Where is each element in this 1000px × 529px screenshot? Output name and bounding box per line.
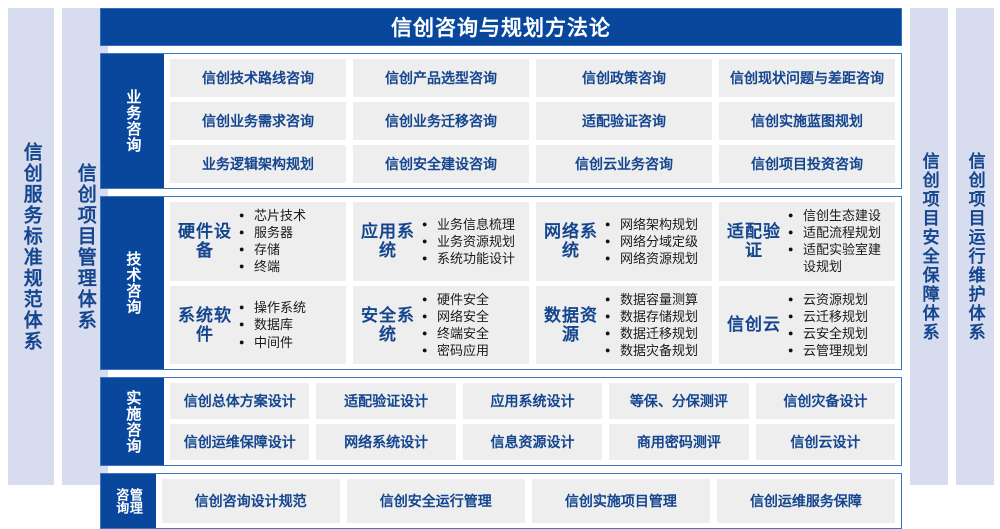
list-item[interactable]: 信创咨询设计规范 — [162, 479, 340, 523]
list-item[interactable]: 信创项目投资咨询 — [719, 145, 895, 183]
list-item[interactable]: 适配验证咨询 — [536, 102, 712, 140]
section-label-text: 技术咨询 — [125, 251, 141, 315]
section-implementation-consulting: 实施咨询 信创总体方案设计 适配验证设计 应用系统设计 等保、分保测评 信创灾备… — [100, 377, 902, 466]
tech-card-title: 系统软件 — [176, 306, 238, 344]
tech-card-network[interactable]: 网络系统 网络架构规划 网络分域定级 网络资源规划 — [536, 202, 712, 281]
pillar-right-security-assurance: 信创项目安全保障体系 — [910, 8, 948, 485]
tech-card-title: 应用系统 — [359, 222, 421, 260]
list-item[interactable]: 信创技术路线咨询 — [170, 59, 346, 97]
section-body-technology: 硬件设备 芯片技术 服务器 存储 终端 应用系统 业务信息梳理 业务资源规划 — [164, 197, 901, 369]
list-item: 云安全规划 — [801, 325, 889, 342]
cell-row: 信创总体方案设计 适配验证设计 应用系统设计 等保、分保测评 信创灾备设计 — [170, 383, 895, 419]
list-item: 密码应用 — [435, 342, 523, 359]
list-item: 中间件 — [252, 334, 340, 351]
list-item: 终端 — [252, 258, 340, 275]
section-label-implementation: 实施咨询 — [101, 378, 164, 465]
list-item[interactable]: 等保、分保测评 — [609, 383, 748, 419]
list-item[interactable]: 信创业务需求咨询 — [170, 102, 346, 140]
list-item[interactable]: 信创实施项目管理 — [532, 479, 710, 523]
tech-card-hardware[interactable]: 硬件设备 芯片技术 服务器 存储 终端 — [170, 202, 346, 281]
center-column: 信创咨询与规划方法论 业务咨询 信创技术路线咨询 信创产品选型咨询 信创政策咨询… — [100, 8, 902, 490]
list-item[interactable]: 商用密码测评 — [609, 424, 748, 460]
list-item: 数据容量测算 — [618, 291, 706, 308]
tech-card-list: 云资源规划 云迁移规划 云安全规划 云管理规划 — [787, 291, 889, 360]
tech-card-row: 系统软件 操作系统 数据库 中间件 安全系统 硬件安全 网络安全 终端安全 — [170, 286, 895, 365]
tech-card-title: 硬件设备 — [176, 222, 238, 260]
list-item[interactable]: 信创云设计 — [756, 424, 895, 460]
list-item[interactable]: 信创云业务咨询 — [536, 145, 712, 183]
list-item[interactable]: 信创政策咨询 — [536, 59, 712, 97]
tech-card-title: 数据资源 — [542, 306, 604, 344]
list-item[interactable]: 信创业务迁移咨询 — [353, 102, 529, 140]
tech-card-data-resource[interactable]: 数据资源 数据容量测算 数据存储规划 数据迁移规划 数据灾备规划 — [536, 286, 712, 365]
cell-row: 业务逻辑架构规划 信创安全建设咨询 信创云业务咨询 信创项目投资咨询 — [170, 145, 895, 183]
list-item: 适配实验室建设规划 — [801, 241, 889, 275]
section-label-text-col1: 咨询 — [115, 488, 129, 514]
cell-row: 信创技术路线咨询 信创产品选型咨询 信创政策咨询 信创现状问题与差距咨询 — [170, 59, 895, 97]
list-item: 网络安全 — [435, 308, 523, 325]
list-item: 服务器 — [252, 224, 340, 241]
list-item: 存储 — [252, 241, 340, 258]
tech-card-title: 适配验证 — [725, 222, 787, 260]
section-technology-consulting: 技术咨询 硬件设备 芯片技术 服务器 存储 终端 应用系统 — [100, 196, 902, 370]
list-item[interactable]: 信创安全建设咨询 — [353, 145, 529, 183]
pillar-label: 信创项目运行维护体系 — [966, 152, 983, 342]
list-item: 芯片技术 — [252, 207, 340, 224]
diagram-root: 信创服务标准规范体系 信创项目管理体系 信创项目安全保障体系 信创项目运行维护体… — [0, 0, 1000, 496]
tech-card-list: 芯片技术 服务器 存储 终端 — [238, 207, 340, 276]
list-item[interactable]: 信创现状问题与差距咨询 — [719, 59, 895, 97]
tech-card-security[interactable]: 安全系统 硬件安全 网络安全 终端安全 密码应用 — [353, 286, 529, 365]
tech-card-list: 网络架构规划 网络分域定级 网络资源规划 — [604, 216, 706, 267]
list-item[interactable]: 信创产品选型咨询 — [353, 59, 529, 97]
tech-card-adaptation[interactable]: 适配验证 信创生态建设 适配流程规划 适配实验室建设规划 — [719, 202, 895, 281]
list-item: 云资源规划 — [801, 291, 889, 308]
list-item[interactable]: 应用系统设计 — [463, 383, 602, 419]
list-item[interactable]: 信创运维保障设计 — [170, 424, 309, 460]
list-item[interactable]: 业务逻辑架构规划 — [170, 145, 346, 183]
list-item: 硬件安全 — [435, 291, 523, 308]
section-label-business: 业务咨询 — [101, 54, 164, 188]
tech-card-list: 硬件安全 网络安全 终端安全 密码应用 — [421, 291, 523, 360]
list-item: 云迁移规划 — [801, 308, 889, 325]
list-item: 网络分域定级 — [618, 233, 706, 250]
pillar-label: 信创项目管理体系 — [75, 163, 94, 331]
pillar-left-service-standard: 信创服务标准规范体系 — [8, 8, 54, 485]
list-item: 网络资源规划 — [618, 250, 706, 267]
list-item: 数据库 — [252, 316, 340, 333]
pillar-label: 信创服务标准规范体系 — [21, 142, 40, 352]
section-business-consulting: 业务咨询 信创技术路线咨询 信创产品选型咨询 信创政策咨询 信创现状问题与差距咨… — [100, 53, 902, 189]
section-body-implementation: 信创总体方案设计 适配验证设计 应用系统设计 等保、分保测评 信创灾备设计 信创… — [164, 378, 901, 465]
list-item: 系统功能设计 — [435, 250, 523, 267]
list-item: 业务信息梳理 — [435, 216, 523, 233]
pillar-label: 信创项目安全保障体系 — [920, 152, 937, 342]
section-body-management: 信创咨询设计规范 信创安全运行管理 信创实施项目管理 信创运维服务保障 — [156, 474, 901, 528]
list-item[interactable]: 网络系统设计 — [316, 424, 455, 460]
list-item: 数据灾备规划 — [618, 342, 706, 359]
list-item: 信创生态建设 — [801, 207, 889, 224]
tech-card-title: 信创云 — [725, 315, 787, 334]
list-item: 适配流程规划 — [801, 224, 889, 241]
tech-card-list: 数据容量测算 数据存储规划 数据迁移规划 数据灾备规划 — [604, 291, 706, 360]
section-label-text: 业务咨询 — [125, 89, 141, 153]
diagram-title-bar: 信创咨询与规划方法论 — [100, 8, 902, 46]
list-item: 终端安全 — [435, 325, 523, 342]
tech-card-system-software[interactable]: 系统软件 操作系统 数据库 中间件 — [170, 286, 346, 365]
list-item[interactable]: 信息资源设计 — [463, 424, 602, 460]
section-label-text-col2: 管理 — [128, 488, 142, 514]
tech-card-title: 安全系统 — [359, 306, 421, 344]
cell-row: 信创业务需求咨询 信创业务迁移咨询 适配验证咨询 信创实施蓝图规划 — [170, 102, 895, 140]
list-item: 数据存储规划 — [618, 308, 706, 325]
tech-card-title: 网络系统 — [542, 222, 604, 260]
section-body-business: 信创技术路线咨询 信创产品选型咨询 信创政策咨询 信创现状问题与差距咨询 信创业… — [164, 54, 901, 188]
list-item[interactable]: 信创总体方案设计 — [170, 383, 309, 419]
cell-row: 信创咨询设计规范 信创安全运行管理 信创实施项目管理 信创运维服务保障 — [162, 479, 895, 523]
tech-card-application[interactable]: 应用系统 业务信息梳理 业务资源规划 系统功能设计 — [353, 202, 529, 281]
list-item[interactable]: 适配验证设计 — [316, 383, 455, 419]
list-item: 云管理规划 — [801, 342, 889, 359]
list-item[interactable]: 信创运维服务保障 — [717, 479, 895, 523]
tech-card-list: 操作系统 数据库 中间件 — [238, 299, 340, 350]
section-consulting-management: 咨询 管理 信创咨询设计规范 信创安全运行管理 信创实施项目管理 信创运维服务保… — [100, 473, 902, 529]
page-title: 信创咨询与规划方法论 — [391, 12, 611, 42]
pillar-right-operation-maintenance: 信创项目运行维护体系 — [956, 8, 994, 485]
section-label-consulting-management: 咨询 管理 — [101, 474, 156, 528]
tech-card-list: 业务信息梳理 业务资源规划 系统功能设计 — [421, 216, 523, 267]
tech-card-row: 硬件设备 芯片技术 服务器 存储 终端 应用系统 业务信息梳理 业务资源规划 — [170, 202, 895, 281]
list-item[interactable]: 信创实施蓝图规划 — [719, 102, 895, 140]
section-label-technology: 技术咨询 — [101, 197, 164, 369]
list-item: 操作系统 — [252, 299, 340, 316]
tech-card-cloud[interactable]: 信创云 云资源规划 云迁移规划 云安全规划 云管理规划 — [719, 286, 895, 365]
section-label-text: 实施咨询 — [125, 390, 141, 454]
list-item: 业务资源规划 — [435, 233, 523, 250]
list-item[interactable]: 信创灾备设计 — [756, 383, 895, 419]
tech-card-list: 信创生态建设 适配流程规划 适配实验室建设规划 — [787, 207, 889, 276]
cell-row: 信创运维保障设计 网络系统设计 信息资源设计 商用密码测评 信创云设计 — [170, 424, 895, 460]
list-item: 数据迁移规划 — [618, 325, 706, 342]
list-item: 网络架构规划 — [618, 216, 706, 233]
list-item[interactable]: 信创安全运行管理 — [347, 479, 525, 523]
